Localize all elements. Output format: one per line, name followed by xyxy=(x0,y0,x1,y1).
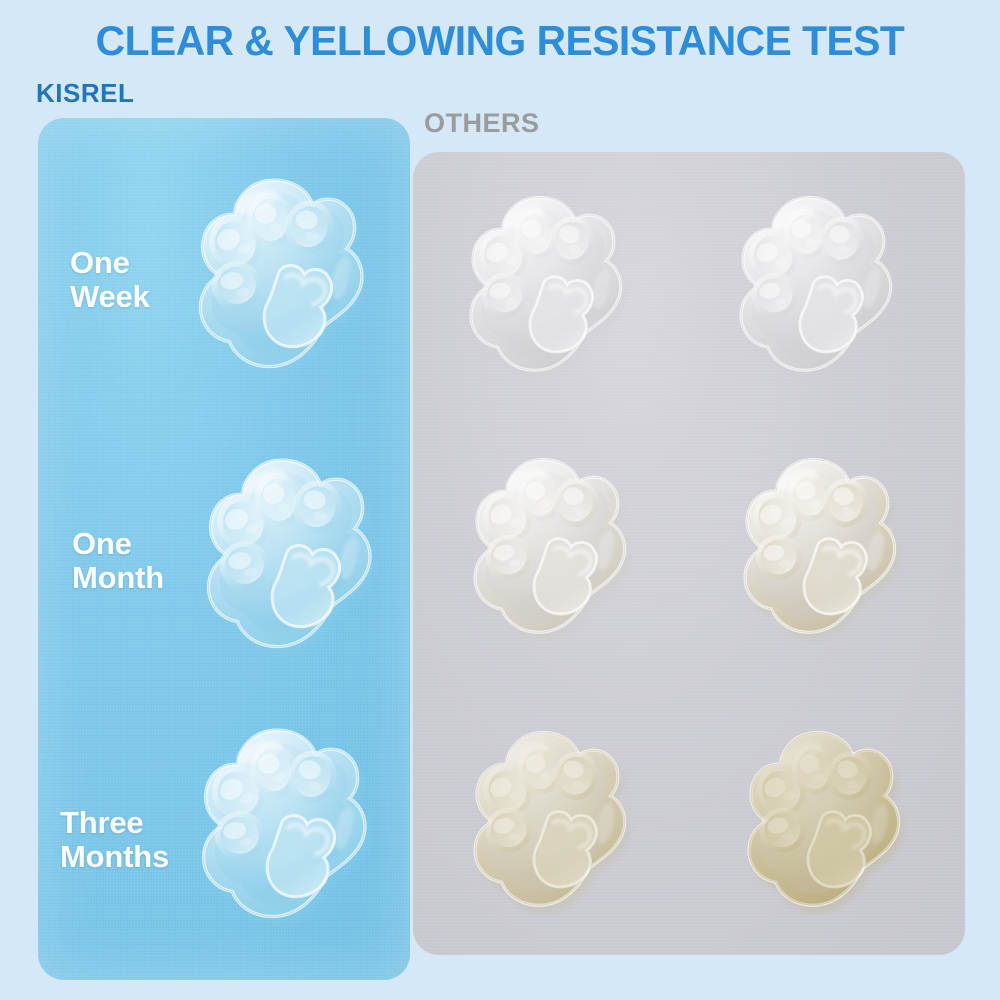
others-sample-one-month-right xyxy=(726,452,916,642)
others-sample-three-months-right xyxy=(730,725,920,915)
others-sample-three-months-left xyxy=(456,725,646,915)
kisrel-column-heading: KISREL xyxy=(36,78,134,109)
kisrel-sample-one-week xyxy=(180,172,385,377)
others-column-heading: OTHERS xyxy=(424,108,540,139)
others-sample-one-month-left xyxy=(456,452,646,642)
row-label-one-week: One Week xyxy=(70,246,150,314)
kisrel-sample-three-months xyxy=(183,722,388,927)
row-label-three-months: Three Months xyxy=(60,806,169,874)
others-sample-one-week-left xyxy=(452,190,642,380)
others-sample-one-week-right xyxy=(722,190,912,380)
kisrel-sample-one-month xyxy=(188,452,393,657)
page-title: CLEAR & YELLOWING RESISTANCE TEST xyxy=(15,18,985,64)
row-label-one-month: One Month xyxy=(72,527,164,595)
